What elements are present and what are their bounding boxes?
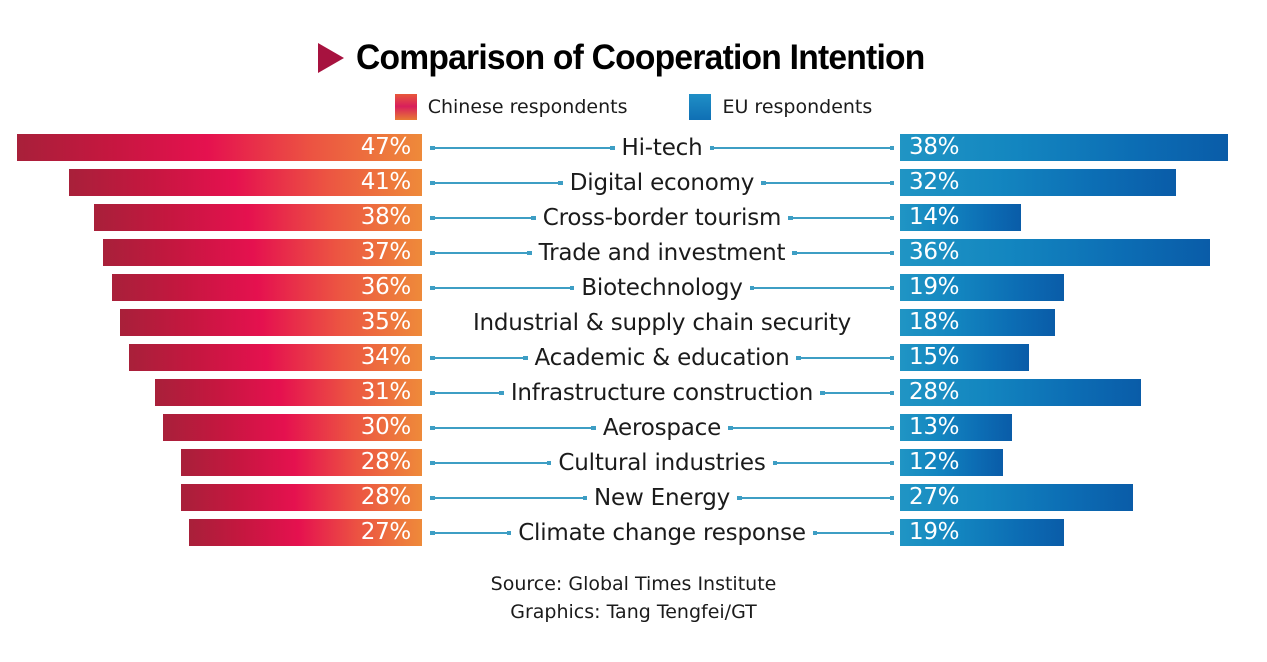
left-bar-track: 34%	[0, 344, 422, 371]
connector-dot	[591, 426, 596, 431]
connector-dot	[813, 531, 818, 536]
right-bar-track: 12%	[900, 449, 1267, 476]
connector-dot	[430, 216, 435, 221]
left-bar-track: 28%	[0, 484, 422, 511]
connector-line-right	[750, 283, 894, 292]
bar-chart: 47%Hi-tech38%41%Digital economy32%38%Cro…	[0, 134, 1267, 554]
connector-line-right	[737, 493, 894, 502]
bar-value-chinese: 28%	[361, 486, 411, 509]
legend-label-eu: EU respondents	[722, 96, 872, 118]
bar-value-chinese: 47%	[361, 136, 411, 159]
bar-chinese: 28%	[181, 484, 422, 511]
category-row: Cross-border tourism	[430, 204, 894, 231]
connector-line-right	[773, 458, 894, 467]
right-bar-track: 15%	[900, 344, 1267, 371]
connector-dot	[430, 181, 435, 186]
chart-row: 37%Trade and investment36%	[0, 239, 1267, 274]
category-label: Hi-tech	[622, 135, 703, 161]
left-bar-track: 38%	[0, 204, 422, 231]
category-label: New Energy	[594, 485, 730, 511]
bar-chinese: 30%	[163, 414, 422, 441]
connector-dot	[890, 356, 895, 361]
connector-dot	[570, 286, 575, 291]
right-bar-track: 36%	[900, 239, 1267, 266]
bar-eu: 14%	[900, 204, 1021, 231]
connector-dot	[430, 356, 435, 361]
connector-dot	[523, 356, 528, 361]
bar-eu: 19%	[900, 274, 1064, 301]
chart-row: 36%Biotechnology19%	[0, 274, 1267, 309]
category-label: Infrastructure construction	[511, 380, 813, 406]
page-title: Comparison of Cooperation Intention	[0, 38, 1267, 78]
graphics-credit: Graphics: Tang Tengfei/GT	[0, 598, 1267, 626]
connector-line-right	[796, 353, 894, 362]
bar-value-eu: 14%	[909, 206, 959, 229]
connector-line-left	[430, 178, 563, 187]
bar-value-eu: 36%	[909, 241, 959, 264]
bar-value-chinese: 30%	[361, 416, 411, 439]
connector-line-left	[430, 353, 528, 362]
category-row: Aerospace	[430, 414, 894, 441]
bar-chinese: 41%	[69, 169, 422, 196]
connector-dot	[430, 426, 435, 431]
chart-legend: Chinese respondents EU respondents	[0, 94, 1267, 120]
chart-row: 38%Cross-border tourism14%	[0, 204, 1267, 239]
bar-value-eu: 13%	[909, 416, 959, 439]
connector-dot	[430, 391, 435, 396]
left-bar-track: 31%	[0, 379, 422, 406]
bar-value-eu: 19%	[909, 521, 959, 544]
left-bar-track: 47%	[0, 134, 422, 161]
connector-dot	[430, 146, 435, 151]
bar-chinese: 47%	[17, 134, 422, 161]
bar-eu: 13%	[900, 414, 1012, 441]
connector-dot	[890, 251, 895, 256]
chart-row: 47%Hi-tech38%	[0, 134, 1267, 169]
chart-row: 41%Digital economy32%	[0, 169, 1267, 204]
connector-line-left	[430, 248, 532, 257]
category-label: Biotechnology	[581, 275, 742, 301]
category-row: Academic & education	[430, 344, 894, 371]
right-bar-track: 19%	[900, 274, 1267, 301]
category-row: Industrial & supply chain security	[430, 309, 894, 336]
chart-row: 27%Climate change response19%	[0, 519, 1267, 554]
connector-line-right	[820, 388, 894, 397]
category-label: Industrial & supply chain security	[473, 310, 851, 336]
connector-dot	[527, 251, 532, 256]
connector-dot	[430, 461, 435, 466]
bar-value-eu: 32%	[909, 171, 959, 194]
connector-dot	[761, 181, 766, 186]
bar-value-chinese: 36%	[361, 276, 411, 299]
connector-dot	[796, 356, 801, 361]
connector-dot	[430, 286, 435, 291]
category-label: Cross-border tourism	[543, 205, 782, 231]
connector-dot	[507, 531, 512, 536]
connector-line-right	[792, 248, 894, 257]
connector-dot	[890, 216, 895, 221]
left-bar-track: 41%	[0, 169, 422, 196]
category-row: Hi-tech	[430, 134, 894, 161]
connector-line-left	[430, 213, 536, 222]
category-row: Cultural industries	[430, 449, 894, 476]
chart-row: 28%New Energy27%	[0, 484, 1267, 519]
connector-dot	[430, 496, 435, 501]
legend-swatch-eu-icon	[689, 94, 711, 120]
triangle-right-icon	[318, 43, 344, 73]
category-row: Digital economy	[430, 169, 894, 196]
connector-dot	[547, 461, 552, 466]
connector-line-right	[788, 213, 894, 222]
bar-chinese: 34%	[129, 344, 422, 371]
bar-chinese: 36%	[112, 274, 422, 301]
bar-value-chinese: 37%	[361, 241, 411, 264]
connector-dot	[773, 461, 778, 466]
source-credit: Source: Global Times Institute	[0, 570, 1267, 598]
connector-dot	[737, 496, 742, 501]
chart-row: 31%Infrastructure construction28%	[0, 379, 1267, 414]
chart-footer: Source: Global Times Institute Graphics:…	[0, 570, 1267, 626]
bar-chinese: 27%	[189, 519, 422, 546]
connector-line-left	[430, 143, 615, 152]
bar-value-eu: 28%	[909, 381, 959, 404]
right-bar-track: 14%	[900, 204, 1267, 231]
connector-dot	[710, 146, 715, 151]
connector-dot	[430, 531, 435, 536]
bar-eu: 12%	[900, 449, 1003, 476]
bar-eu: 38%	[900, 134, 1228, 161]
bar-chinese: 35%	[120, 309, 422, 336]
right-bar-track: 27%	[900, 484, 1267, 511]
left-bar-track: 36%	[0, 274, 422, 301]
category-label: Cultural industries	[558, 450, 765, 476]
connector-dot	[890, 496, 895, 501]
bar-value-chinese: 41%	[361, 171, 411, 194]
connector-line-left	[430, 528, 511, 537]
bar-value-eu: 38%	[909, 136, 959, 159]
bar-value-eu: 27%	[909, 486, 959, 509]
connector-dot	[890, 146, 895, 151]
connector-line-right	[813, 528, 894, 537]
bar-value-eu: 15%	[909, 346, 959, 369]
bar-eu: 36%	[900, 239, 1210, 266]
bar-eu: 28%	[900, 379, 1141, 406]
bar-value-chinese: 27%	[361, 521, 411, 544]
bar-eu: 27%	[900, 484, 1133, 511]
category-label: Trade and investment	[539, 240, 786, 266]
left-bar-track: 35%	[0, 309, 422, 336]
chart-row: 34%Academic & education15%	[0, 344, 1267, 379]
connector-line-left	[430, 458, 551, 467]
bar-eu: 15%	[900, 344, 1029, 371]
category-row: New Energy	[430, 484, 894, 511]
bar-eu: 19%	[900, 519, 1064, 546]
bar-chinese: 37%	[103, 239, 422, 266]
right-bar-track: 32%	[900, 169, 1267, 196]
connector-dot	[583, 496, 588, 501]
connector-dot	[430, 251, 435, 256]
legend-item-eu: EU respondents	[689, 94, 872, 120]
connector-dot	[558, 181, 563, 186]
connector-dot	[788, 216, 793, 221]
category-row: Infrastructure construction	[430, 379, 894, 406]
connector-line-right	[761, 178, 894, 187]
bar-eu: 32%	[900, 169, 1176, 196]
right-bar-track: 19%	[900, 519, 1267, 546]
bar-chinese: 28%	[181, 449, 422, 476]
left-bar-track: 28%	[0, 449, 422, 476]
legend-item-chinese: Chinese respondents	[395, 94, 628, 120]
category-label: Climate change response	[518, 520, 806, 546]
connector-line-left	[430, 493, 587, 502]
category-row: Climate change response	[430, 519, 894, 546]
connector-dot	[820, 391, 825, 396]
bar-value-chinese: 28%	[361, 451, 411, 474]
legend-label-chinese: Chinese respondents	[428, 96, 628, 118]
bar-chinese: 31%	[155, 379, 422, 406]
right-bar-track: 38%	[900, 134, 1267, 161]
bar-eu: 18%	[900, 309, 1055, 336]
connector-dot	[499, 391, 504, 396]
bar-value-chinese: 38%	[361, 206, 411, 229]
connector-line-left	[430, 388, 504, 397]
left-bar-track: 27%	[0, 519, 422, 546]
bar-value-eu: 12%	[909, 451, 959, 474]
category-row: Trade and investment	[430, 239, 894, 266]
category-label: Academic & education	[535, 345, 790, 371]
connector-dot	[890, 531, 895, 536]
connector-dot	[750, 286, 755, 291]
legend-swatch-chinese-icon	[395, 94, 417, 120]
title-text: Comparison of Cooperation Intention	[356, 38, 925, 78]
connector-dot	[890, 181, 895, 186]
category-row: Biotechnology	[430, 274, 894, 301]
connector-dot	[890, 286, 895, 291]
left-bar-track: 30%	[0, 414, 422, 441]
connector-dot	[531, 216, 536, 221]
bar-value-chinese: 31%	[361, 381, 411, 404]
bar-value-eu: 18%	[909, 311, 959, 334]
connector-dot	[890, 461, 895, 466]
bar-value-eu: 19%	[909, 276, 959, 299]
right-bar-track: 18%	[900, 309, 1267, 336]
connector-line-left	[430, 283, 574, 292]
left-bar-track: 37%	[0, 239, 422, 266]
connector-line-right	[728, 423, 894, 432]
connector-line-left	[430, 423, 596, 432]
connector-line-right	[710, 143, 895, 152]
chart-row: 28%Cultural industries12%	[0, 449, 1267, 484]
right-bar-track: 13%	[900, 414, 1267, 441]
bar-value-chinese: 34%	[361, 346, 411, 369]
connector-dot	[610, 146, 615, 151]
right-bar-track: 28%	[900, 379, 1267, 406]
category-label: Digital economy	[570, 170, 754, 196]
connector-dot	[792, 251, 797, 256]
connector-dot	[890, 391, 895, 396]
bar-value-chinese: 35%	[361, 311, 411, 334]
chart-row: 30%Aerospace13%	[0, 414, 1267, 449]
connector-dot	[728, 426, 733, 431]
chart-row: 35%Industrial & supply chain security18%	[0, 309, 1267, 344]
category-label: Aerospace	[603, 415, 721, 441]
bar-chinese: 38%	[94, 204, 422, 231]
connector-dot	[890, 426, 895, 431]
